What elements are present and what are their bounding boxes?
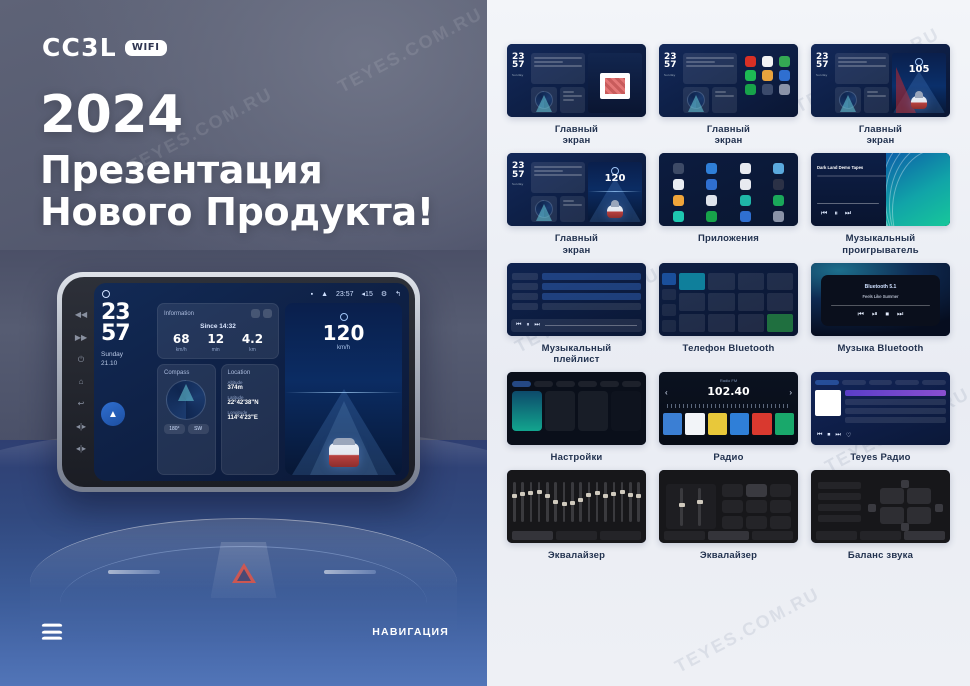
settings-tab-general[interactable] <box>600 381 619 387</box>
volume-up-key[interactable]: ◂|▸ <box>76 445 86 453</box>
compass-direction: SW <box>188 424 209 434</box>
app-icon-maps[interactable] <box>779 56 790 67</box>
thumb-music-playlist[interactable]: ⏮ ⏸ ⏭ <box>507 263 646 336</box>
prev-icon[interactable]: ⏮ <box>817 432 822 439</box>
grid-cell[interactable]: ⏮ ⏹ ⏭ ♡ Teyes Радио <box>811 372 950 463</box>
eq-tab-equalizer[interactable] <box>512 531 553 540</box>
pause-icon[interactable]: ⏸ <box>526 322 529 329</box>
eq-band[interactable] <box>554 482 557 522</box>
thumb-home-screen-adas2[interactable]: 2357Sunday 120 <box>507 153 646 226</box>
app-icon-bt-music[interactable] <box>740 163 751 174</box>
lead-vehicle-icon <box>329 443 359 467</box>
thumb-settings[interactable] <box>507 372 646 445</box>
balance-preset[interactable] <box>818 482 861 489</box>
dashboard-scene: ◀◀ ▶▶ ⏻ ⌂ ↩ ◂|▸ ◂|▸ ▪ <box>0 250 487 686</box>
grid-cell[interactable]: Radio FM 102.40 ‹ › <box>659 372 798 463</box>
clock-column: 23 57 Sunday 21.10 ▲ <box>101 303 151 475</box>
clock-weekday: Sunday <box>101 351 151 360</box>
balance-left-button[interactable] <box>868 504 876 512</box>
head-unit: ◀◀ ▶▶ ⏻ ⌂ ↩ ◂|▸ ◂|▸ ▪ <box>57 272 420 492</box>
app-icon-chrome[interactable] <box>706 179 717 190</box>
next-track-key[interactable]: ▶▶ <box>75 334 87 342</box>
eq-band[interactable] <box>563 482 566 522</box>
thumb-label: Главный экран <box>555 233 598 255</box>
adas-icon <box>340 313 348 321</box>
radio-preset-1[interactable] <box>663 413 682 435</box>
dial-key-9[interactable] <box>738 314 764 332</box>
mini-clock-min: 57 <box>512 60 525 70</box>
thumb-label: Музыка Bluetooth <box>837 343 923 354</box>
eq-band[interactable] <box>613 482 616 522</box>
watermark: TEYES.COM.RU <box>334 3 486 97</box>
hero-panel: TEYES.COM.RU TEYES.COM.RU TEYES.COM.RU T… <box>0 0 487 686</box>
seat-front-right[interactable] <box>907 488 931 504</box>
radio-next-icon[interactable]: › <box>789 388 792 397</box>
playpause-icon[interactable]: ⏯ <box>872 311 878 319</box>
settings-tab-display[interactable] <box>556 381 575 387</box>
compass-dial-icon <box>166 380 206 420</box>
balance-right-button[interactable] <box>935 504 943 512</box>
thumb-home-screen-adas[interactable]: 2357Sunday 105 <box>811 44 950 117</box>
information-title: Information <box>164 311 194 317</box>
headline-line-1: Презентация <box>40 149 434 192</box>
call-icon[interactable] <box>767 314 793 332</box>
thumb-applications[interactable] <box>659 153 798 226</box>
settings-tile-carplay[interactable] <box>545 391 575 431</box>
compass-heading: 180° <box>164 424 185 434</box>
adas-speed: 120 km/h <box>285 323 402 351</box>
eq-band[interactable] <box>579 482 582 522</box>
navigation-arrow-icon[interactable]: ▲ <box>101 402 125 426</box>
mini-clock-min: 57 <box>512 170 525 180</box>
headline-line-2: Нового Продукта! <box>40 191 434 234</box>
next-icon[interactable]: ⏭ <box>534 322 539 329</box>
grid-cell[interactable]: Эквалайзер <box>659 470 798 561</box>
eq-tab-effect[interactable] <box>708 531 749 540</box>
app-icon-playstore[interactable] <box>706 211 717 222</box>
stat-distance-value: 4.2 <box>242 333 263 345</box>
eq-tab-fader[interactable] <box>600 531 641 540</box>
radio-preset-4[interactable] <box>730 413 749 435</box>
footer-label: НАВИГАЦИЯ <box>372 626 449 638</box>
mini-clock-day: Sunday <box>664 74 680 78</box>
app-icon-musicplayer[interactable] <box>673 211 684 222</box>
eq-band[interactable] <box>530 482 533 522</box>
thumb-label: Баланс звука <box>848 550 913 561</box>
grid-cell[interactable]: Приложения <box>659 153 798 255</box>
app-icon-radio[interactable] <box>740 211 751 222</box>
settings-tab-sound[interactable] <box>534 381 553 387</box>
app-icon-drawer[interactable] <box>779 84 790 95</box>
thumb-label: Приложения <box>698 233 759 244</box>
stat-time-value: 12 <box>207 333 224 345</box>
teyes-album-art <box>815 390 841 416</box>
home-icon[interactable] <box>102 290 110 298</box>
playlist-track[interactable] <box>542 283 641 290</box>
adas-panel[interactable]: 120 km/h <box>285 303 402 475</box>
mini-clock-min: 57 <box>664 60 677 70</box>
status-bar: ▪ ▲ 23:57 ◂15 ⚙ ↰ <box>102 287 401 301</box>
eq-tab-fader[interactable] <box>752 531 793 540</box>
teyes-tab-podcast[interactable] <box>895 380 919 385</box>
presentation-slide: TEYES.COM.RU TEYES.COM.RU TEYES.COM.RU T… <box>0 0 970 686</box>
dialer-tab-contacts[interactable] <box>662 289 676 301</box>
eq-band[interactable] <box>637 482 640 522</box>
eq-tab-equalizer[interactable] <box>664 531 705 540</box>
longitude-value: 114°4'23"E <box>228 415 273 421</box>
radio-preset-2[interactable] <box>685 413 704 435</box>
eq-preset-pop[interactable] <box>722 484 743 497</box>
thumb-bluetooth-music[interactable]: Bluetooth 5.1 Feels Like Summer ⏮ ⏯ ⏹ ⏭ <box>811 263 950 336</box>
grid-cell[interactable]: ⏮ ⏸ ⏭ Музыкальный плейлист <box>507 263 646 365</box>
wifi-badge: WIFI <box>125 40 167 56</box>
thumb-equalizer-presets[interactable] <box>659 470 798 543</box>
eq-preset-custom[interactable] <box>746 500 767 513</box>
eq-band[interactable] <box>546 482 549 522</box>
thumb-label: Телефон Bluetooth <box>683 343 775 354</box>
logo-text: CC3L <box>42 33 117 62</box>
thumb-equalizer-bands[interactable] <box>507 470 646 543</box>
status-time: 23:57 <box>336 291 354 298</box>
head-unit-frame: ◀◀ ▶▶ ⏻ ⌂ ↩ ◂|▸ ◂|▸ ▪ <box>62 277 415 487</box>
seat-rear-right[interactable] <box>907 507 931 523</box>
mini-clock-day: Sunday <box>512 183 528 187</box>
next-icon[interactable]: ⏭ <box>845 210 851 218</box>
eq-preset-rock[interactable] <box>722 500 743 513</box>
track-title: Dark Land Demo Tapes <box>817 165 883 170</box>
equalizer-bands[interactable] <box>513 482 640 522</box>
prev-icon[interactable]: ⏮ <box>858 311 864 319</box>
mini-clock-day: Sunday <box>512 74 528 78</box>
grid-cell[interactable]: 2357Sunday <box>659 44 798 146</box>
thumb-home-screen-media[interactable]: 2357Sunday <box>507 44 646 117</box>
app-icon-settings[interactable] <box>773 211 784 222</box>
wave-art <box>886 153 950 226</box>
information-card[interactable]: Information Since 14:32 <box>157 303 279 359</box>
dial-key-2[interactable] <box>708 273 734 291</box>
app-icon-avin[interactable] <box>673 163 684 174</box>
app-icon-bluetooth[interactable] <box>706 163 717 174</box>
compass-card[interactable]: Compass 180° SW <box>157 364 216 475</box>
grid-cell[interactable]: Настройки <box>507 372 646 463</box>
thumb-label: Главный экран <box>707 124 750 146</box>
stat-time: 12 min <box>207 333 224 353</box>
adas-speed-value: 120 <box>285 323 402 343</box>
grid-cell[interactable]: Dark Land Demo Tapes ⏮ ⏸ ⏭ <box>811 153 950 255</box>
grid-cell[interactable]: 2357Sunday 105 Г <box>811 44 950 146</box>
radio-prev-icon[interactable]: ‹ <box>665 388 668 397</box>
app-icon-calculator[interactable] <box>773 163 784 174</box>
settings-tile-extra[interactable] <box>611 391 641 431</box>
grid-cell[interactable]: Баланс звука <box>811 470 950 561</box>
app-icon-youtube[interactable] <box>745 56 756 67</box>
thumb-music-player[interactable]: Dark Land Demo Tapes ⏮ ⏸ ⏭ <box>811 153 950 226</box>
teyes-station-row[interactable] <box>845 399 946 405</box>
back-icon[interactable]: ↰ <box>395 290 401 298</box>
app-icon-spotify[interactable] <box>745 70 756 81</box>
eq-tab-effect[interactable] <box>860 531 901 540</box>
headline-year: 2024 <box>40 88 434 143</box>
playlist-track[interactable] <box>542 293 641 300</box>
altitude-value: 374m <box>228 385 273 391</box>
location-title: Location <box>228 370 251 376</box>
back-key[interactable]: ↩ <box>78 400 85 408</box>
settings-tab-system[interactable] <box>622 381 641 387</box>
eq-preset-treble[interactable] <box>746 516 767 529</box>
thumb-radio[interactable]: Radio FM 102.40 ‹ › <box>659 372 798 445</box>
location-card[interactable]: Location Altitude 374m Latitude 22°42'38… <box>221 364 280 475</box>
volume-indicator: ◂15 <box>362 290 373 298</box>
thumb-label: Teyes Радио <box>850 452 910 463</box>
playlist-nav-item[interactable] <box>512 283 538 290</box>
app-icon-music[interactable] <box>740 195 751 206</box>
dial-key-4[interactable] <box>679 293 705 311</box>
playlist-track[interactable] <box>542 273 641 280</box>
stop-icon[interactable]: ⏹ <box>827 432 830 439</box>
thumb-sound-balance[interactable] <box>811 470 950 543</box>
teyes-tab-favorites[interactable] <box>922 380 946 385</box>
expand-icon[interactable] <box>263 309 272 318</box>
clock-date: 21.10 <box>101 360 151 369</box>
screen-body: 23 57 Sunday 21.10 ▲ Information <box>101 303 402 475</box>
stat-time-unit: min <box>207 347 224 353</box>
teyes-tab-live[interactable] <box>815 380 839 385</box>
teyes-tab-genres[interactable] <box>842 380 866 385</box>
radio-preset-5[interactable] <box>752 413 771 435</box>
eq-band[interactable] <box>521 482 524 522</box>
favorite-icon[interactable]: ♡ <box>846 432 851 439</box>
screenshot-grid-panel: TEYES.COM.RU TEYES.COM.RU TEYES.COM.RU T… <box>487 0 970 686</box>
thumb-label: Настройки <box>551 452 603 463</box>
teyes-station-row[interactable] <box>845 417 946 423</box>
stat-distance-unit: km <box>242 347 263 353</box>
eq-band[interactable] <box>513 482 516 522</box>
thumb-label: Главный экран <box>859 124 902 146</box>
playlist-nav-item[interactable] <box>512 273 538 280</box>
settings-tile-wifi[interactable] <box>512 391 542 431</box>
playlist-track[interactable] <box>542 303 641 310</box>
eq-band[interactable] <box>538 482 541 522</box>
radio-band: Radio FM <box>659 378 798 383</box>
seat-rear-left[interactable] <box>880 507 904 523</box>
since-label: Since 14:32 <box>164 323 272 330</box>
app-icon-gallery[interactable] <box>762 70 773 81</box>
dial-key-star[interactable] <box>767 273 793 291</box>
app-icon-files[interactable] <box>779 70 790 81</box>
settings-tab-wifi[interactable] <box>512 381 531 387</box>
eq-band[interactable] <box>604 482 607 522</box>
settings-tile-more[interactable] <box>578 391 608 431</box>
radio-frequency: 102.40 <box>659 385 798 398</box>
prev-track-key[interactable]: ◀◀ <box>75 311 87 319</box>
app-icon-play[interactable] <box>745 84 756 95</box>
dial-key-8[interactable] <box>708 314 734 332</box>
pause-icon[interactable]: ⏸ <box>834 210 838 218</box>
trip-stats: 68 km/h 12 min 4.2 <box>164 333 272 353</box>
latitude-value: 22°42'38"N <box>228 400 273 406</box>
balance-up-button[interactable] <box>901 480 909 488</box>
settings-tab-apps[interactable] <box>578 381 597 387</box>
home-key[interactable]: ⌂ <box>79 378 84 386</box>
eq-band[interactable] <box>621 482 624 522</box>
eq-band[interactable] <box>596 482 599 522</box>
dial-key-3[interactable] <box>738 273 764 291</box>
info-column: Information Since 14:32 <box>157 303 279 475</box>
grid-cell[interactable]: Эквалайзер <box>507 470 646 561</box>
stat-speed-value: 68 <box>173 333 190 345</box>
stat-speed-unit: km/h <box>173 347 190 353</box>
dial-key-7[interactable] <box>679 314 705 332</box>
radio-tuning-scale[interactable] <box>667 404 790 408</box>
hazard-triangle-inner-icon <box>237 569 251 581</box>
balance-preset-list[interactable] <box>818 482 861 529</box>
mini-clock-min: 57 <box>816 60 829 70</box>
eq-band[interactable] <box>571 482 574 522</box>
hardware-key-column: ◀◀ ▶▶ ⏻ ⌂ ↩ ◂|▸ ◂|▸ <box>68 283 94 481</box>
clock-minute: 57 <box>101 324 151 345</box>
app-icon-filemanager[interactable] <box>673 195 684 206</box>
dialer-tab-recent[interactable] <box>662 304 676 316</box>
prev-icon[interactable]: ⏮ <box>821 210 827 218</box>
thumb-label: Эквалайзер <box>548 550 605 561</box>
adas-speed-unit: km/h <box>285 345 402 351</box>
grid-cell[interactable]: 2357Sunday 120 Г <box>507 153 646 255</box>
playlist-nav-item[interactable] <box>512 293 538 300</box>
thumb-label: Главный экран <box>555 124 598 146</box>
volume-down-key[interactable]: ◂|▸ <box>76 423 86 431</box>
balance-preset[interactable] <box>818 515 861 522</box>
eq-preset-bass[interactable] <box>722 516 743 529</box>
thumb-home-screen-apps[interactable]: 2357Sunday <box>659 44 798 117</box>
teyes-tab-music[interactable] <box>869 380 893 385</box>
grid-cell[interactable]: Bluetooth 5.1 Feels Like Summer ⏮ ⏯ ⏹ ⏭ <box>811 263 950 365</box>
headline: 2024 Презентация Нового Продукта! <box>40 88 434 234</box>
eq-preset-grid[interactable] <box>722 484 791 529</box>
wifi-icon: ▲ <box>321 291 328 298</box>
next-icon[interactable]: ⏭ <box>835 432 840 439</box>
power-key[interactable]: ⏻ <box>78 356 84 364</box>
app-icon-maps[interactable] <box>773 195 784 206</box>
bt-track-title: Feels Like Summer <box>821 294 940 299</box>
bt-version-label: Bluetooth 5.1 <box>821 284 940 290</box>
dial-key-6[interactable] <box>738 293 764 311</box>
thumb-label: Радио <box>713 452 743 463</box>
eq-sliders-group[interactable] <box>666 484 716 529</box>
app-icon-camera[interactable] <box>673 179 684 190</box>
mini-clock-day: Sunday <box>816 74 832 78</box>
compass-title: Compass <box>164 370 189 376</box>
app-icon-gallery[interactable] <box>706 195 717 206</box>
balance-pad[interactable] <box>868 482 944 529</box>
eq-tab-effect[interactable] <box>556 531 597 540</box>
thumb-label: Музыкальный плейлист <box>542 343 612 365</box>
prev-icon[interactable]: ⏮ <box>516 322 521 329</box>
thumbnail-grid: 2357Sunday Главный экран <box>507 44 950 562</box>
refresh-icon[interactable] <box>251 309 260 318</box>
grid-cell[interactable]: 2357Sunday Главный экран <box>507 44 646 146</box>
vent-slot-right <box>324 570 376 574</box>
vent-slot-left <box>108 570 160 574</box>
thumb-label: Музыкальный проигрыватель <box>842 233 918 255</box>
app-icon-settings[interactable] <box>762 84 773 95</box>
dial-key-backspace[interactable] <box>767 293 793 311</box>
app-icon-chrome[interactable] <box>762 56 773 67</box>
watermark: TEYES.COM.RU <box>671 583 823 677</box>
app-icon-dvr[interactable] <box>773 179 784 190</box>
balance-preset[interactable] <box>818 493 861 500</box>
next-icon[interactable]: ⏭ <box>897 311 903 319</box>
eq-preset-jazz[interactable] <box>770 484 791 497</box>
teyes-station-row[interactable] <box>845 390 946 396</box>
gear-icon[interactable]: ⚙ <box>381 290 387 298</box>
balance-down-button[interactable] <box>901 523 909 531</box>
signal-icon: ▪ <box>311 291 313 298</box>
dialer-tab-keypad[interactable] <box>662 273 676 285</box>
layers-icon <box>42 623 62 641</box>
teyes-station-row[interactable] <box>845 408 946 414</box>
stat-speed: 68 km/h <box>173 333 190 353</box>
eq-preset-vocal[interactable] <box>770 500 791 513</box>
grid-cell[interactable]: Телефон Bluetooth <box>659 263 798 365</box>
thumb-teyes-radio[interactable]: ⏮ ⏹ ⏭ ♡ <box>811 372 950 445</box>
eq-band[interactable] <box>629 482 632 522</box>
seat-front-left[interactable] <box>880 488 904 504</box>
radio-preset-3[interactable] <box>708 413 727 435</box>
head-unit-screen[interactable]: ▪ ▲ 23:57 ◂15 ⚙ ↰ 23 57 <box>94 283 409 481</box>
stat-distance: 4.2 km <box>242 333 263 353</box>
eq-preset-classic[interactable] <box>746 484 767 497</box>
dial-key-1[interactable] <box>679 273 705 291</box>
thumb-label: Эквалайзер <box>700 550 757 561</box>
playlist-nav-item[interactable] <box>512 303 538 310</box>
bt-player-card: Bluetooth 5.1 Feels Like Summer ⏮ ⏯ ⏹ ⏭ <box>821 275 940 326</box>
dialer-tab-settings[interactable] <box>662 320 676 332</box>
eq-preset-flat[interactable] <box>770 516 791 529</box>
thumb-bluetooth-phone[interactable] <box>659 263 798 336</box>
radio-preset-6[interactable] <box>775 413 794 435</box>
balance-preset[interactable] <box>818 504 861 511</box>
dial-key-5[interactable] <box>708 293 734 311</box>
eq-tab-fader[interactable] <box>904 531 945 540</box>
eq-band[interactable] <box>588 482 591 522</box>
stop-icon[interactable]: ⏹ <box>886 311 890 319</box>
eq-tab-equalizer[interactable] <box>816 531 857 540</box>
product-logo: CC3L WIFI <box>42 33 167 62</box>
app-icon-clock[interactable] <box>740 179 751 190</box>
